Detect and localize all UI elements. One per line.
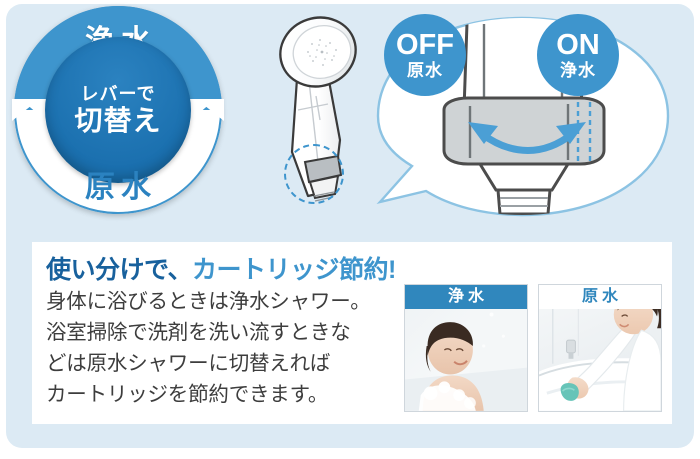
photo-gensui: 原水	[538, 284, 662, 412]
body-line-2: 浴室掃除で洗剤を洗い流すときな	[46, 317, 396, 348]
photo-jousui-caption: 浄水	[405, 285, 527, 309]
photo-jousui: 浄水	[404, 284, 528, 412]
toggle-center-line2: 切替え	[74, 107, 161, 135]
callout-badge-on: ON 浄水	[537, 14, 619, 96]
callout-on-subtitle: 浄水	[560, 62, 596, 79]
body-line-4: カートリッジを節約できます。	[46, 379, 396, 410]
body-line-1: 身体に浴びるときは浄水シャワー。	[46, 286, 396, 317]
headline-part-light: カートリッジ節約!	[192, 256, 396, 284]
callout-off-subtitle: 原水	[407, 62, 443, 79]
callout-on-title: ON	[556, 31, 600, 60]
lever-highlight-dashed-circle	[284, 144, 344, 204]
info-card: 使い分けで、カートリッジ節約! 身体に浴びるときは浄水シャワー。 浴室掃除で洗剤…	[32, 242, 672, 424]
card-headline: 使い分けで、カートリッジ節約!	[46, 250, 396, 286]
headline-part-dark: 使い分けで、	[46, 256, 192, 284]
top-illustration-section: 浄水 レバーで 切替え 原水	[0, 0, 700, 232]
card-body-text: 身体に浴びるときは浄水シャワー。 浴室掃除で洗剤を洗い流すときな どは原水シャワ…	[46, 286, 396, 410]
toggle-bottom-label: 原水	[14, 162, 222, 206]
water-mode-toggle-badge: 浄水 レバーで 切替え 原水	[14, 6, 222, 214]
callout-off-title: OFF	[396, 31, 454, 60]
callout-badge-off: OFF 原水	[384, 14, 466, 96]
body-line-3: どは原水シャワーに切替えれば	[46, 348, 396, 379]
photo-comparison-group: 浄水	[404, 284, 662, 412]
shower-head-illustration	[262, 12, 382, 217]
lever-collar	[444, 98, 604, 164]
toggle-center-line1: レバーで	[81, 85, 156, 103]
photo-gensui-caption: 原水	[539, 285, 661, 309]
